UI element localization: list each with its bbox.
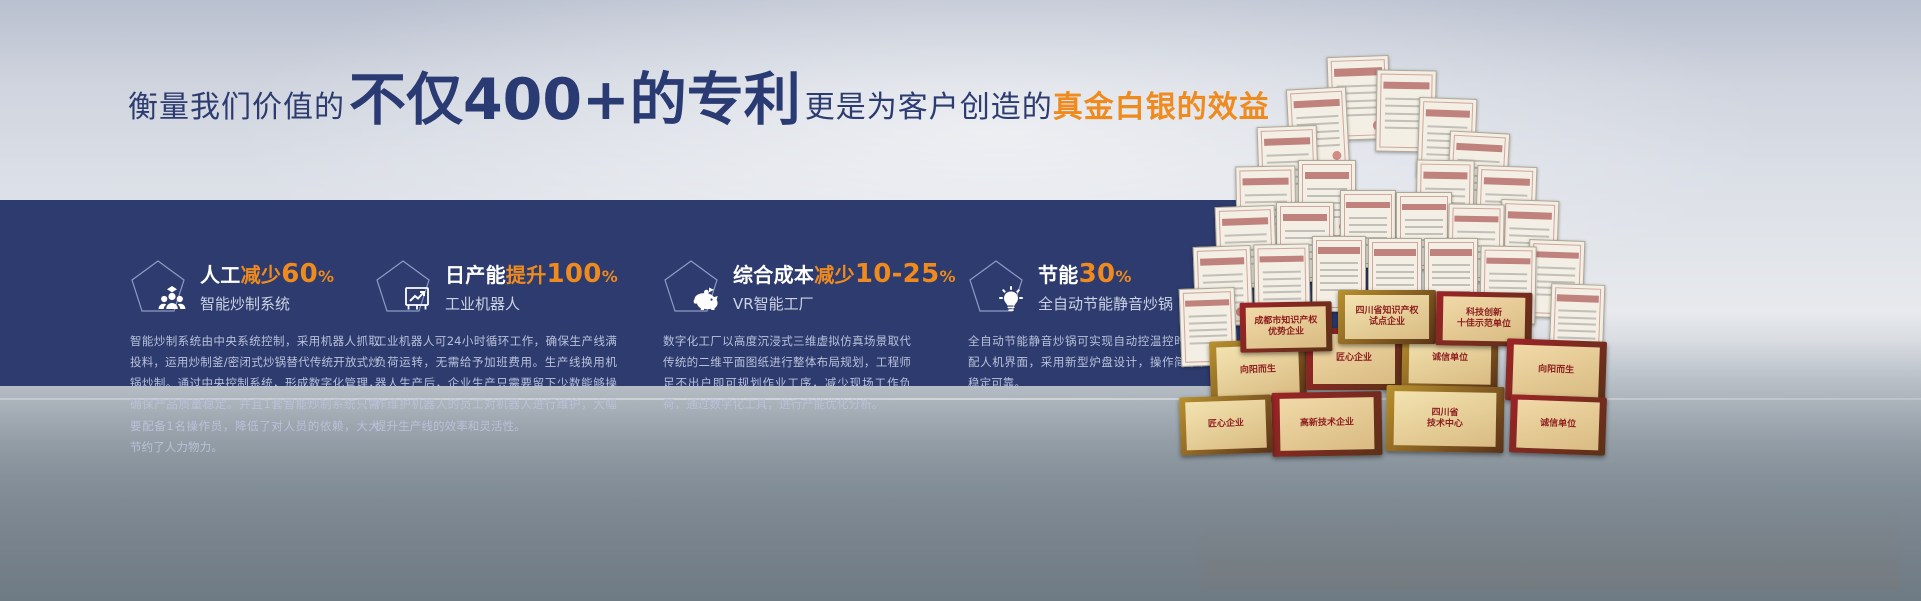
headline-middle: 更是为客户创造的 xyxy=(805,93,1053,123)
feature-title-prefix: 节能 xyxy=(1038,263,1079,287)
feature-header: 综合成本减少10-25% VR智能工厂 xyxy=(663,258,910,315)
page-title: 衡量我们价值的 不仅400+的专利 更是为客户创造的 真金白银的效益 xyxy=(128,72,1428,140)
feature-titles: 节能30% 全自动节能静音炒锅 xyxy=(1038,258,1173,315)
feature-title-prefix: 人工 xyxy=(200,263,241,287)
certificate-plaque: 四川省知识产权 试点企业 xyxy=(1338,290,1436,344)
feature-item-labor: 人工减少60% 智能炒制系统 智能炒制系统由中央系统控制，采用机器人抓取投料，运… xyxy=(0,200,300,388)
feature-title-accent: 减少 xyxy=(241,263,282,287)
feature-title-prefix: 综合成本 xyxy=(733,263,814,287)
feature-item-capacity: 日产能提升100% 工业机器人 工业机器人可24小时循环工作，确保生产线满负荷运… xyxy=(300,200,590,388)
plaque-text: 匠心企业 xyxy=(1208,419,1244,432)
lightbulb-icon xyxy=(968,258,1024,314)
feature-description: 工业机器人可24小时循环工作，确保生产线满负荷运转，无需给予加班费用。生产线换用… xyxy=(375,331,617,437)
feature-header: 节能30% 全自动节能静音炒锅 xyxy=(968,258,1210,315)
headline-accent: 真金白银的效益 xyxy=(1053,93,1270,123)
feature-title-unit: % xyxy=(1115,267,1131,286)
certificate-plaque: 诚信单位 xyxy=(1509,394,1607,455)
certificate-plaque: 四川省 技术中心 xyxy=(1385,385,1504,453)
people-group-icon xyxy=(130,258,186,314)
feature-header: 日产能提升100% 工业机器人 xyxy=(375,258,590,315)
certificate-plaque: 成都市知识产权 优势企业 xyxy=(1240,301,1333,353)
plaque-text: 四川省 技术中心 xyxy=(1427,407,1463,430)
feature-title-prefix: 日产能 xyxy=(445,263,506,287)
plaque-text: 向阳而生 xyxy=(1240,365,1276,378)
plaque-text: 诚信单位 xyxy=(1540,419,1576,432)
feature-header: 人工减少60% 智能炒制系统 xyxy=(130,258,300,315)
plaque-text: 向阳而生 xyxy=(1538,365,1574,378)
feature-item-energy: 节能30% 全自动节能静音炒锅 全自动节能静音炒锅可实现自动控温控时，搭配人机界… xyxy=(910,200,1210,388)
headline-emphasis: 不仅400+的专利 xyxy=(345,72,805,129)
plaque-text: 诚信单位 xyxy=(1432,353,1468,365)
certificate-wall: 向阳而生匠心企业诚信单位成都市知识产权 优势企业四川省知识产权 试点企业科技创新… xyxy=(1180,40,1921,510)
plaque-text: 四川省知识产权 试点企业 xyxy=(1355,306,1418,329)
plaque-text: 高新技术企业 xyxy=(1300,418,1354,430)
feature-item-cost: 综合成本减少10-25% VR智能工厂 数字化工厂以高度沉浸式三维虚拟仿真场景取… xyxy=(590,200,910,388)
headline-prefix: 衡量我们价值的 xyxy=(128,93,345,123)
feature-title: 节能30% xyxy=(1038,263,1132,287)
banner-stage: 向阳而生匠心企业诚信单位成都市知识产权 优势企业四川省知识产权 试点企业科技创新… xyxy=(0,0,1921,601)
plaque-text: 成都市知识产权 优势企业 xyxy=(1254,315,1317,339)
feature-subtitle: 全自动节能静音炒锅 xyxy=(1038,294,1173,315)
plaque-text: 科技创新 十佳示范单位 xyxy=(1457,307,1511,330)
feature-description: 全自动节能静音炒锅可实现自动控温控时，搭配人机界面，采用新型炉盘设计，操作简单、… xyxy=(968,331,1210,395)
certificate-plaque: 高新技术企业 xyxy=(1271,391,1382,457)
chart-board-icon xyxy=(375,258,431,314)
certificate-plaque: 匠心企业 xyxy=(1179,394,1273,455)
feature-title-number: 30 xyxy=(1079,259,1116,289)
feature-description: 数字化工厂以高度沉浸式三维虚拟仿真场景取代传统的二维平面图纸进行整体布局规划，工… xyxy=(663,331,911,416)
plaque-text: 匠心企业 xyxy=(1336,353,1372,364)
feature-title-accent: 提升 xyxy=(506,263,547,287)
feature-title-accent: 减少 xyxy=(814,263,855,287)
piggy-bank-icon xyxy=(663,258,719,314)
